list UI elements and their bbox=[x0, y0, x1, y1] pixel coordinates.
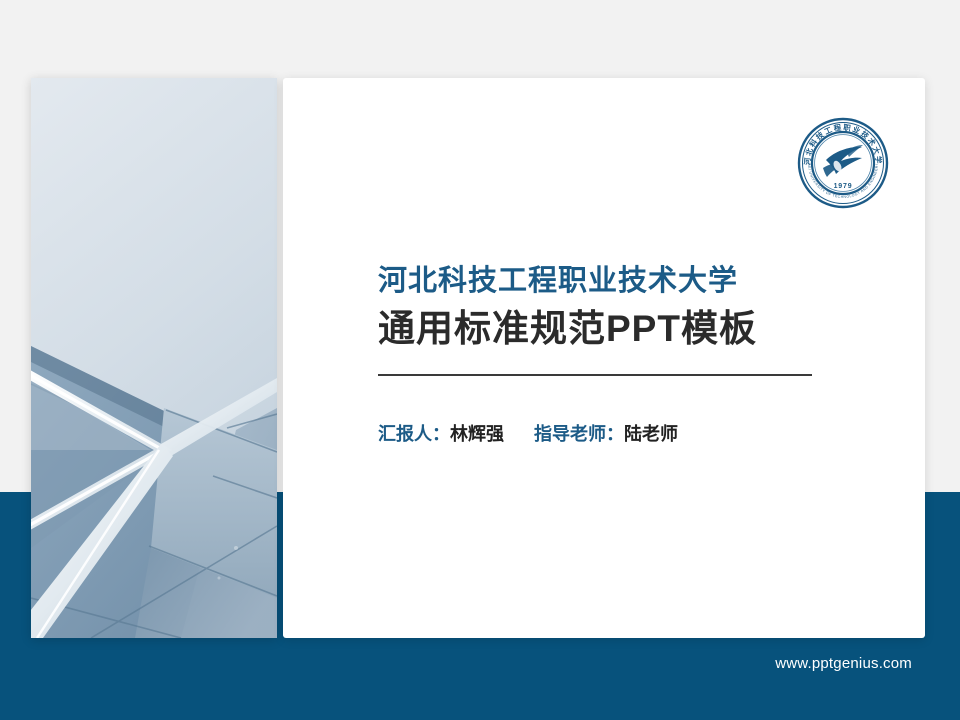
architecture-photo bbox=[31, 78, 277, 638]
reporter-label: 汇报人： bbox=[378, 424, 450, 444]
reporter-name: 林辉强 bbox=[450, 424, 504, 444]
cover-photo-panel bbox=[31, 78, 277, 638]
university-seal-icon: 河北科技工程职业技术大学 HEBEI UNIVERSITY OF TECHNOL… bbox=[796, 116, 890, 210]
title-block: 河北科技工程职业技术大学 通用标准规范PPT模板 bbox=[378, 262, 818, 376]
presenter-row: 汇报人：林辉强指导老师：陆老师 bbox=[378, 420, 678, 446]
university-logo: 河北科技工程职业技术大学 HEBEI UNIVERSITY OF TECHNOL… bbox=[796, 116, 890, 210]
footer-website-url: www.pptgenius.com bbox=[775, 655, 912, 672]
advisor-name: 陆老师 bbox=[624, 424, 678, 444]
page-title: 通用标准规范PPT模板 bbox=[378, 305, 818, 354]
title-divider bbox=[378, 374, 812, 376]
presentation-slide: 河北科技工程职业技术大学 HEBEI UNIVERSITY OF TECHNOL… bbox=[0, 0, 960, 720]
university-name: 河北科技工程职业技术大学 bbox=[378, 262, 818, 301]
logo-year: 1979 bbox=[834, 183, 853, 190]
advisor-label: 指导老师： bbox=[534, 424, 624, 444]
